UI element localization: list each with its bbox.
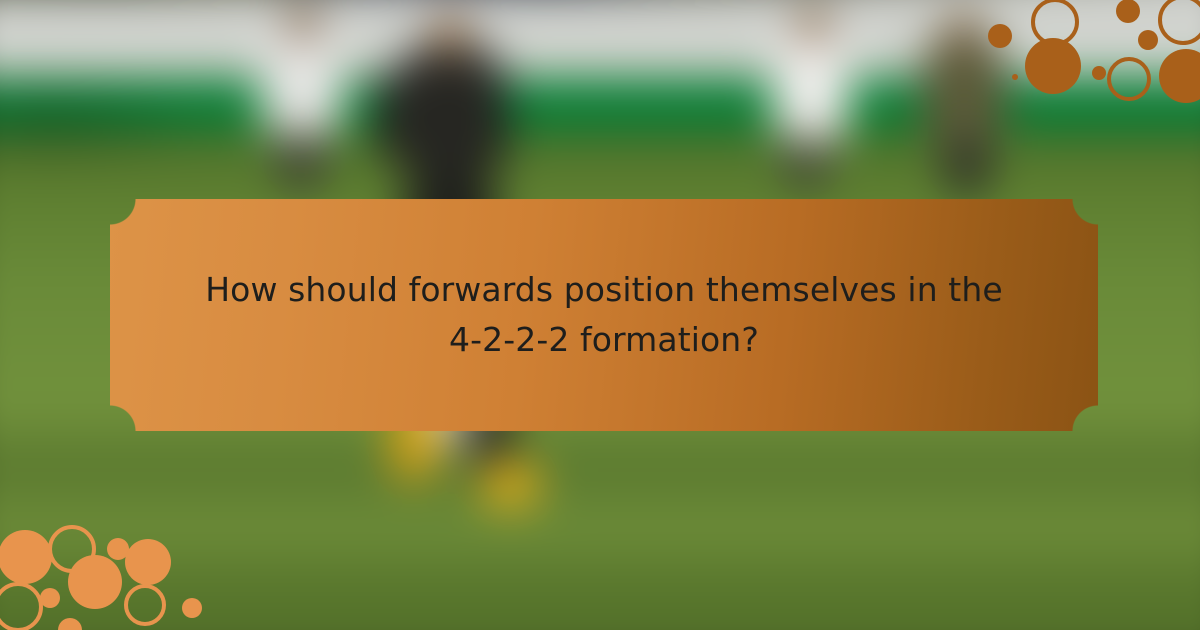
decorative-dot-ring <box>124 584 166 626</box>
decorative-dot-filled <box>0 530 52 584</box>
player-silhouette <box>480 460 540 508</box>
player-silhouette <box>278 130 324 190</box>
question-card: How should forwards position themselves … <box>110 199 1098 431</box>
decorative-dot-filled <box>988 24 1012 48</box>
decorative-dot-filled <box>40 588 60 608</box>
decorative-dot-filled <box>1012 74 1018 80</box>
background-shadow <box>0 70 220 170</box>
decorative-dot-filled <box>68 555 122 609</box>
grass-mow-band <box>0 432 1200 502</box>
player-silhouette <box>796 6 830 46</box>
player-silhouette <box>286 4 320 44</box>
decorative-dot-filled <box>1092 66 1106 80</box>
decorative-dot-filled <box>1116 0 1140 23</box>
decorative-dot-filled <box>125 539 171 585</box>
social-card-image: How should forwards position themselves … <box>0 0 1200 630</box>
decorative-dot-ring <box>1107 57 1151 101</box>
decorative-dot-filled <box>1025 38 1081 94</box>
player-silhouette <box>946 10 980 50</box>
player-silhouette <box>944 138 990 196</box>
player-silhouette <box>390 38 510 188</box>
decorative-dot-filled <box>182 598 202 618</box>
question-text: How should forwards position themselves … <box>164 265 1044 365</box>
grass-mow-band <box>0 562 1200 630</box>
decorative-dot-filled <box>1138 30 1158 50</box>
player-silhouette <box>786 135 828 190</box>
player-silhouette <box>430 12 470 58</box>
